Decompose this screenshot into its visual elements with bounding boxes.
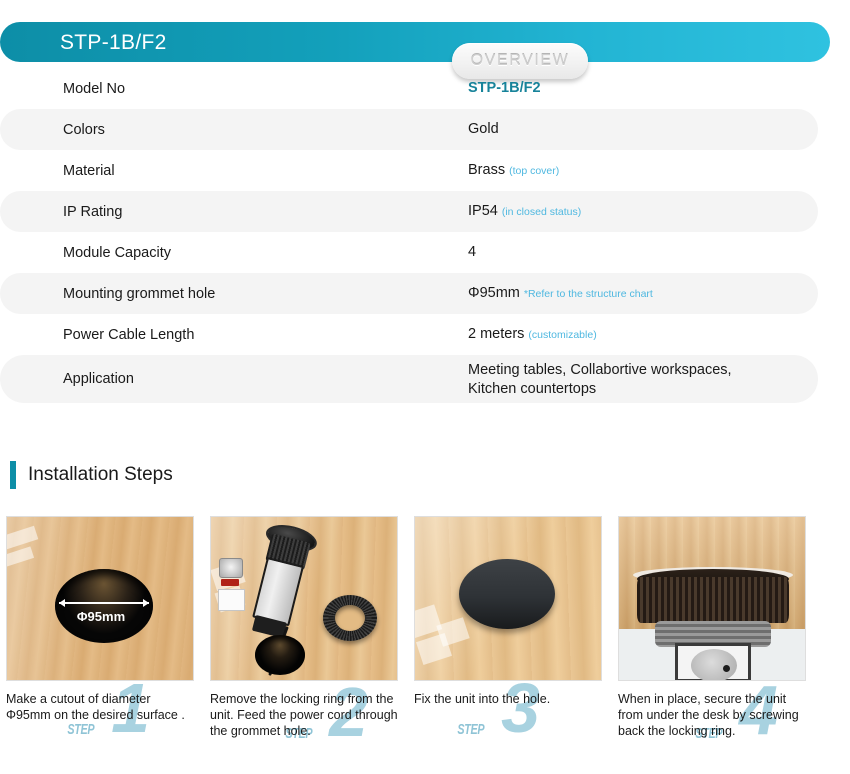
table-row: Mounting grommet hole Φ95mm*Refer to the… <box>0 273 818 314</box>
step-text: When in place, secure the unit from unde… <box>618 691 806 739</box>
step-number-ghost: 3 <box>501 673 540 743</box>
spec-value: STP-1B/F2 <box>468 79 541 98</box>
section-title: Installation Steps <box>28 464 173 486</box>
spec-note: (in closed status) <box>502 206 581 218</box>
reflection-patch <box>6 546 34 567</box>
led-indicator <box>221 579 239 586</box>
table-row: Application Meeting tables, Collabortive… <box>0 355 818 403</box>
spec-label: Colors <box>63 122 105 138</box>
spec-label: Application <box>63 371 134 387</box>
installation-steps: Φ95mm 1 STEP Make a cutout of diameter Φ… <box>6 516 844 767</box>
spec-value: Gold <box>468 120 499 139</box>
step-photo-4 <box>618 516 806 681</box>
spec-value: IP54(in closed status) <box>468 202 581 222</box>
dimension-arrow-icon <box>59 602 149 604</box>
desk-cutout-hole <box>255 635 305 675</box>
step-photo-1: Φ95mm <box>6 516 194 681</box>
table-row: Model No STP-1B/F2 <box>0 68 850 109</box>
table-row: Module Capacity 4 <box>0 232 850 273</box>
list-item: 2 STEP Remove the locking ring from the … <box>210 516 398 767</box>
spec-value-text: Meeting tables, Collabortive workspaces, <box>468 361 732 380</box>
list-item: Φ95mm 1 STEP Make a cutout of diameter Φ… <box>6 516 194 767</box>
step-text: Remove the locking ring from the unit. F… <box>210 691 398 739</box>
step-caption: 2 STEP Remove the locking ring from the … <box>210 691 398 767</box>
page-header: STP-1B/F2 OVERVIEW <box>0 22 830 62</box>
spec-label: Module Capacity <box>63 245 171 261</box>
list-item: 3 STEP Fix the unit into the hole. <box>414 516 602 767</box>
spec-label: Mounting grommet hole <box>63 286 215 302</box>
section-accent-bar <box>10 461 16 489</box>
spec-value: 4 <box>468 243 476 262</box>
reflection-patch <box>436 617 469 647</box>
spec-note: *Refer to the structure chart <box>524 288 653 300</box>
table-row: Colors Gold <box>0 109 818 150</box>
table-row: IP Rating IP54(in closed status) <box>0 191 818 232</box>
step-caption: 4 STEP When in place, secure the unit fr… <box>618 691 806 767</box>
spec-label: Model No <box>63 81 125 97</box>
spec-value-text-line2: Kitchen countertops <box>468 380 732 399</box>
locking-ring <box>323 595 377 641</box>
dimension-label: Φ95mm <box>7 609 194 624</box>
specification-table: Model No STP-1B/F2 Colors Gold Material … <box>0 68 850 403</box>
socket-outlet <box>219 558 243 578</box>
spec-value-text: STP-1B/F2 <box>468 80 541 96</box>
blank-panel <box>218 589 245 611</box>
spec-value: Φ95mm*Refer to the structure chart <box>468 284 653 304</box>
spec-label: Power Cable Length <box>63 327 194 343</box>
socket-pin-hole <box>723 665 730 672</box>
spec-value-text: Brass <box>468 162 505 178</box>
step-text: Make a cutout of diameter Φ95mm on the d… <box>6 691 194 723</box>
table-row: Material Brass(top cover) <box>0 150 850 191</box>
spec-value: Meeting tables, Collabortive workspaces,… <box>468 361 732 399</box>
spec-value-text: Φ95mm <box>468 285 520 301</box>
power-unit-body <box>246 521 315 638</box>
list-item: 4 STEP When in place, secure the unit fr… <box>618 516 806 767</box>
spec-note: (customizable) <box>528 329 596 341</box>
spec-value-text: 2 meters <box>468 326 524 342</box>
reflection-patch <box>6 526 38 550</box>
step-word-label: STEP <box>457 721 484 738</box>
step-photo-3 <box>414 516 602 681</box>
step-text: Fix the unit into the hole. <box>414 691 602 707</box>
spec-label: IP Rating <box>63 204 122 220</box>
step-photo-2 <box>210 516 398 681</box>
page-title: STP-1B/F2 <box>60 31 167 55</box>
step-caption: 3 STEP Fix the unit into the hole. <box>414 691 602 767</box>
spec-value: 2 meters(customizable) <box>468 325 597 345</box>
spec-note: (top cover) <box>509 165 559 177</box>
step-word-label: STEP <box>67 721 94 738</box>
socket-outlet <box>691 649 737 681</box>
step-caption: 1 STEP Make a cutout of diameter Φ95mm o… <box>6 691 194 767</box>
closed-cover-disc <box>459 559 555 629</box>
table-row: Power Cable Length 2 meters(customizable… <box>0 314 850 355</box>
installation-section-heading: Installation Steps <box>10 461 173 489</box>
spec-value-text: Gold <box>468 121 499 137</box>
spec-value-text: IP54 <box>468 203 498 219</box>
spec-value-text: 4 <box>468 244 476 260</box>
spec-label: Material <box>63 163 115 179</box>
spec-value: Brass(top cover) <box>468 161 559 181</box>
locking-ring <box>637 577 789 623</box>
desk-cutout-hole <box>55 569 153 643</box>
